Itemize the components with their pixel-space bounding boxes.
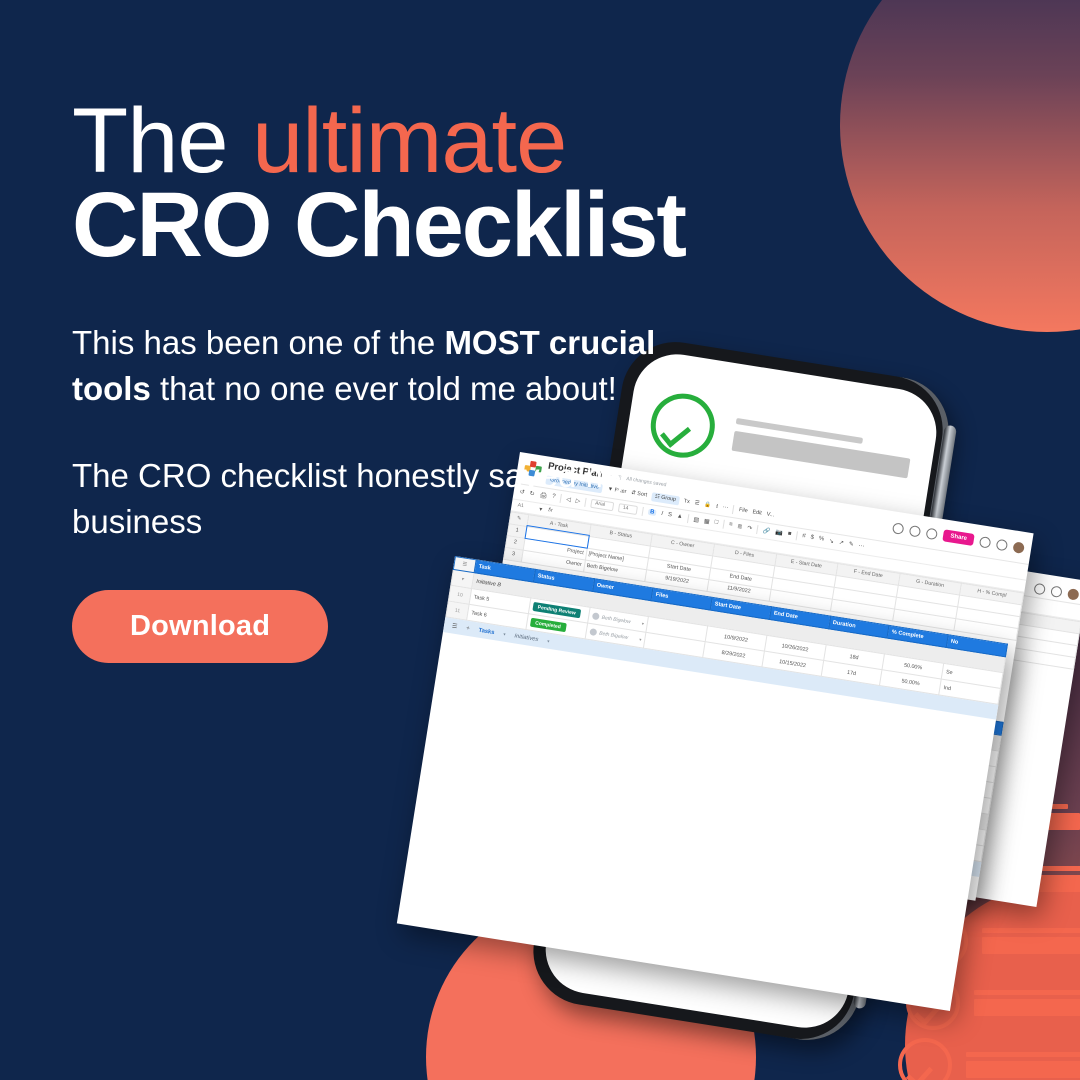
menu-view[interactable]: V... bbox=[766, 511, 774, 518]
bell-icon[interactable] bbox=[1050, 585, 1063, 598]
currency-button[interactable]: $ bbox=[810, 535, 814, 541]
poster-canvas: The ultimate CRO Checklist This has been… bbox=[0, 0, 1080, 1080]
link-button[interactable]: 🔗 bbox=[763, 527, 771, 535]
decimal-decrease-button[interactable]: ↘ bbox=[828, 537, 834, 545]
para1-part2: that no one ever told me about! bbox=[151, 370, 617, 407]
check-circle-icon bbox=[898, 1038, 952, 1080]
para1-part1: This has been one of the bbox=[72, 324, 444, 361]
decor-bar bbox=[966, 1052, 1080, 1057]
decor-circle-top-right bbox=[840, 0, 1080, 332]
number-format-button[interactable]: # bbox=[802, 533, 806, 539]
download-button[interactable]: Download bbox=[72, 590, 328, 663]
decimal-increase-button[interactable]: ↗ bbox=[838, 539, 844, 547]
align-horizontal-button[interactable]: ≡ bbox=[729, 522, 733, 528]
insert-chart-button[interactable]: ■ bbox=[787, 531, 792, 537]
share-button[interactable]: Share bbox=[943, 529, 975, 546]
help-icon[interactable] bbox=[979, 536, 992, 549]
headline-line-1: The ultimate bbox=[72, 96, 712, 186]
headline-line-2: CRO Checklist bbox=[72, 180, 712, 270]
percent-button[interactable]: % bbox=[818, 536, 824, 543]
decor-bar bbox=[974, 999, 1080, 1016]
merge-cells-button[interactable]: □ bbox=[714, 519, 719, 525]
bell-icon[interactable] bbox=[996, 538, 1009, 551]
avatar[interactable] bbox=[1067, 588, 1080, 601]
testimonial-paragraph-1: This has been one of the MOST crucial to… bbox=[72, 320, 712, 411]
download-icon[interactable]: ⭳ bbox=[715, 502, 718, 511]
comment-icon[interactable] bbox=[892, 522, 905, 535]
decor-bar bbox=[982, 928, 1080, 933]
history-icon[interactable] bbox=[926, 527, 939, 540]
decor-bar bbox=[974, 990, 1080, 995]
decor-bar bbox=[966, 1061, 1080, 1078]
testimonial-paragraph-2: The CRO checklist honestly saved my busi… bbox=[72, 453, 712, 544]
decor-bar bbox=[982, 937, 1080, 954]
paint-format-button[interactable]: ✎ bbox=[848, 540, 854, 548]
more-icon[interactable]: ⋯ bbox=[722, 504, 728, 511]
back-panel-actions bbox=[1033, 578, 1080, 601]
placeholder-line bbox=[732, 430, 911, 478]
page-title: The ultimate CRO Checklist bbox=[72, 96, 712, 270]
copy-column: The ultimate CRO Checklist This has been… bbox=[72, 96, 712, 663]
more-format-button[interactable]: ⋯ bbox=[858, 542, 865, 550]
menu-file[interactable]: File bbox=[739, 507, 749, 514]
decor-bars bbox=[966, 1052, 1080, 1078]
clock-icon[interactable] bbox=[909, 525, 922, 538]
decor-bars bbox=[974, 990, 1080, 1016]
align-vertical-button[interactable]: ≣ bbox=[737, 522, 743, 530]
insert-image-button[interactable]: 📷 bbox=[775, 528, 783, 536]
wrap-text-button[interactable]: ↷ bbox=[747, 524, 753, 532]
help-icon[interactable] bbox=[1033, 583, 1046, 596]
decor-checklist-item bbox=[898, 1038, 1080, 1080]
body-copy: This has been one of the MOST crucial to… bbox=[72, 320, 712, 544]
placeholder-lines bbox=[732, 417, 913, 477]
decor-bars bbox=[982, 928, 1080, 954]
avatar[interactable] bbox=[1012, 541, 1025, 554]
menu-edit[interactable]: Edit bbox=[752, 509, 762, 516]
